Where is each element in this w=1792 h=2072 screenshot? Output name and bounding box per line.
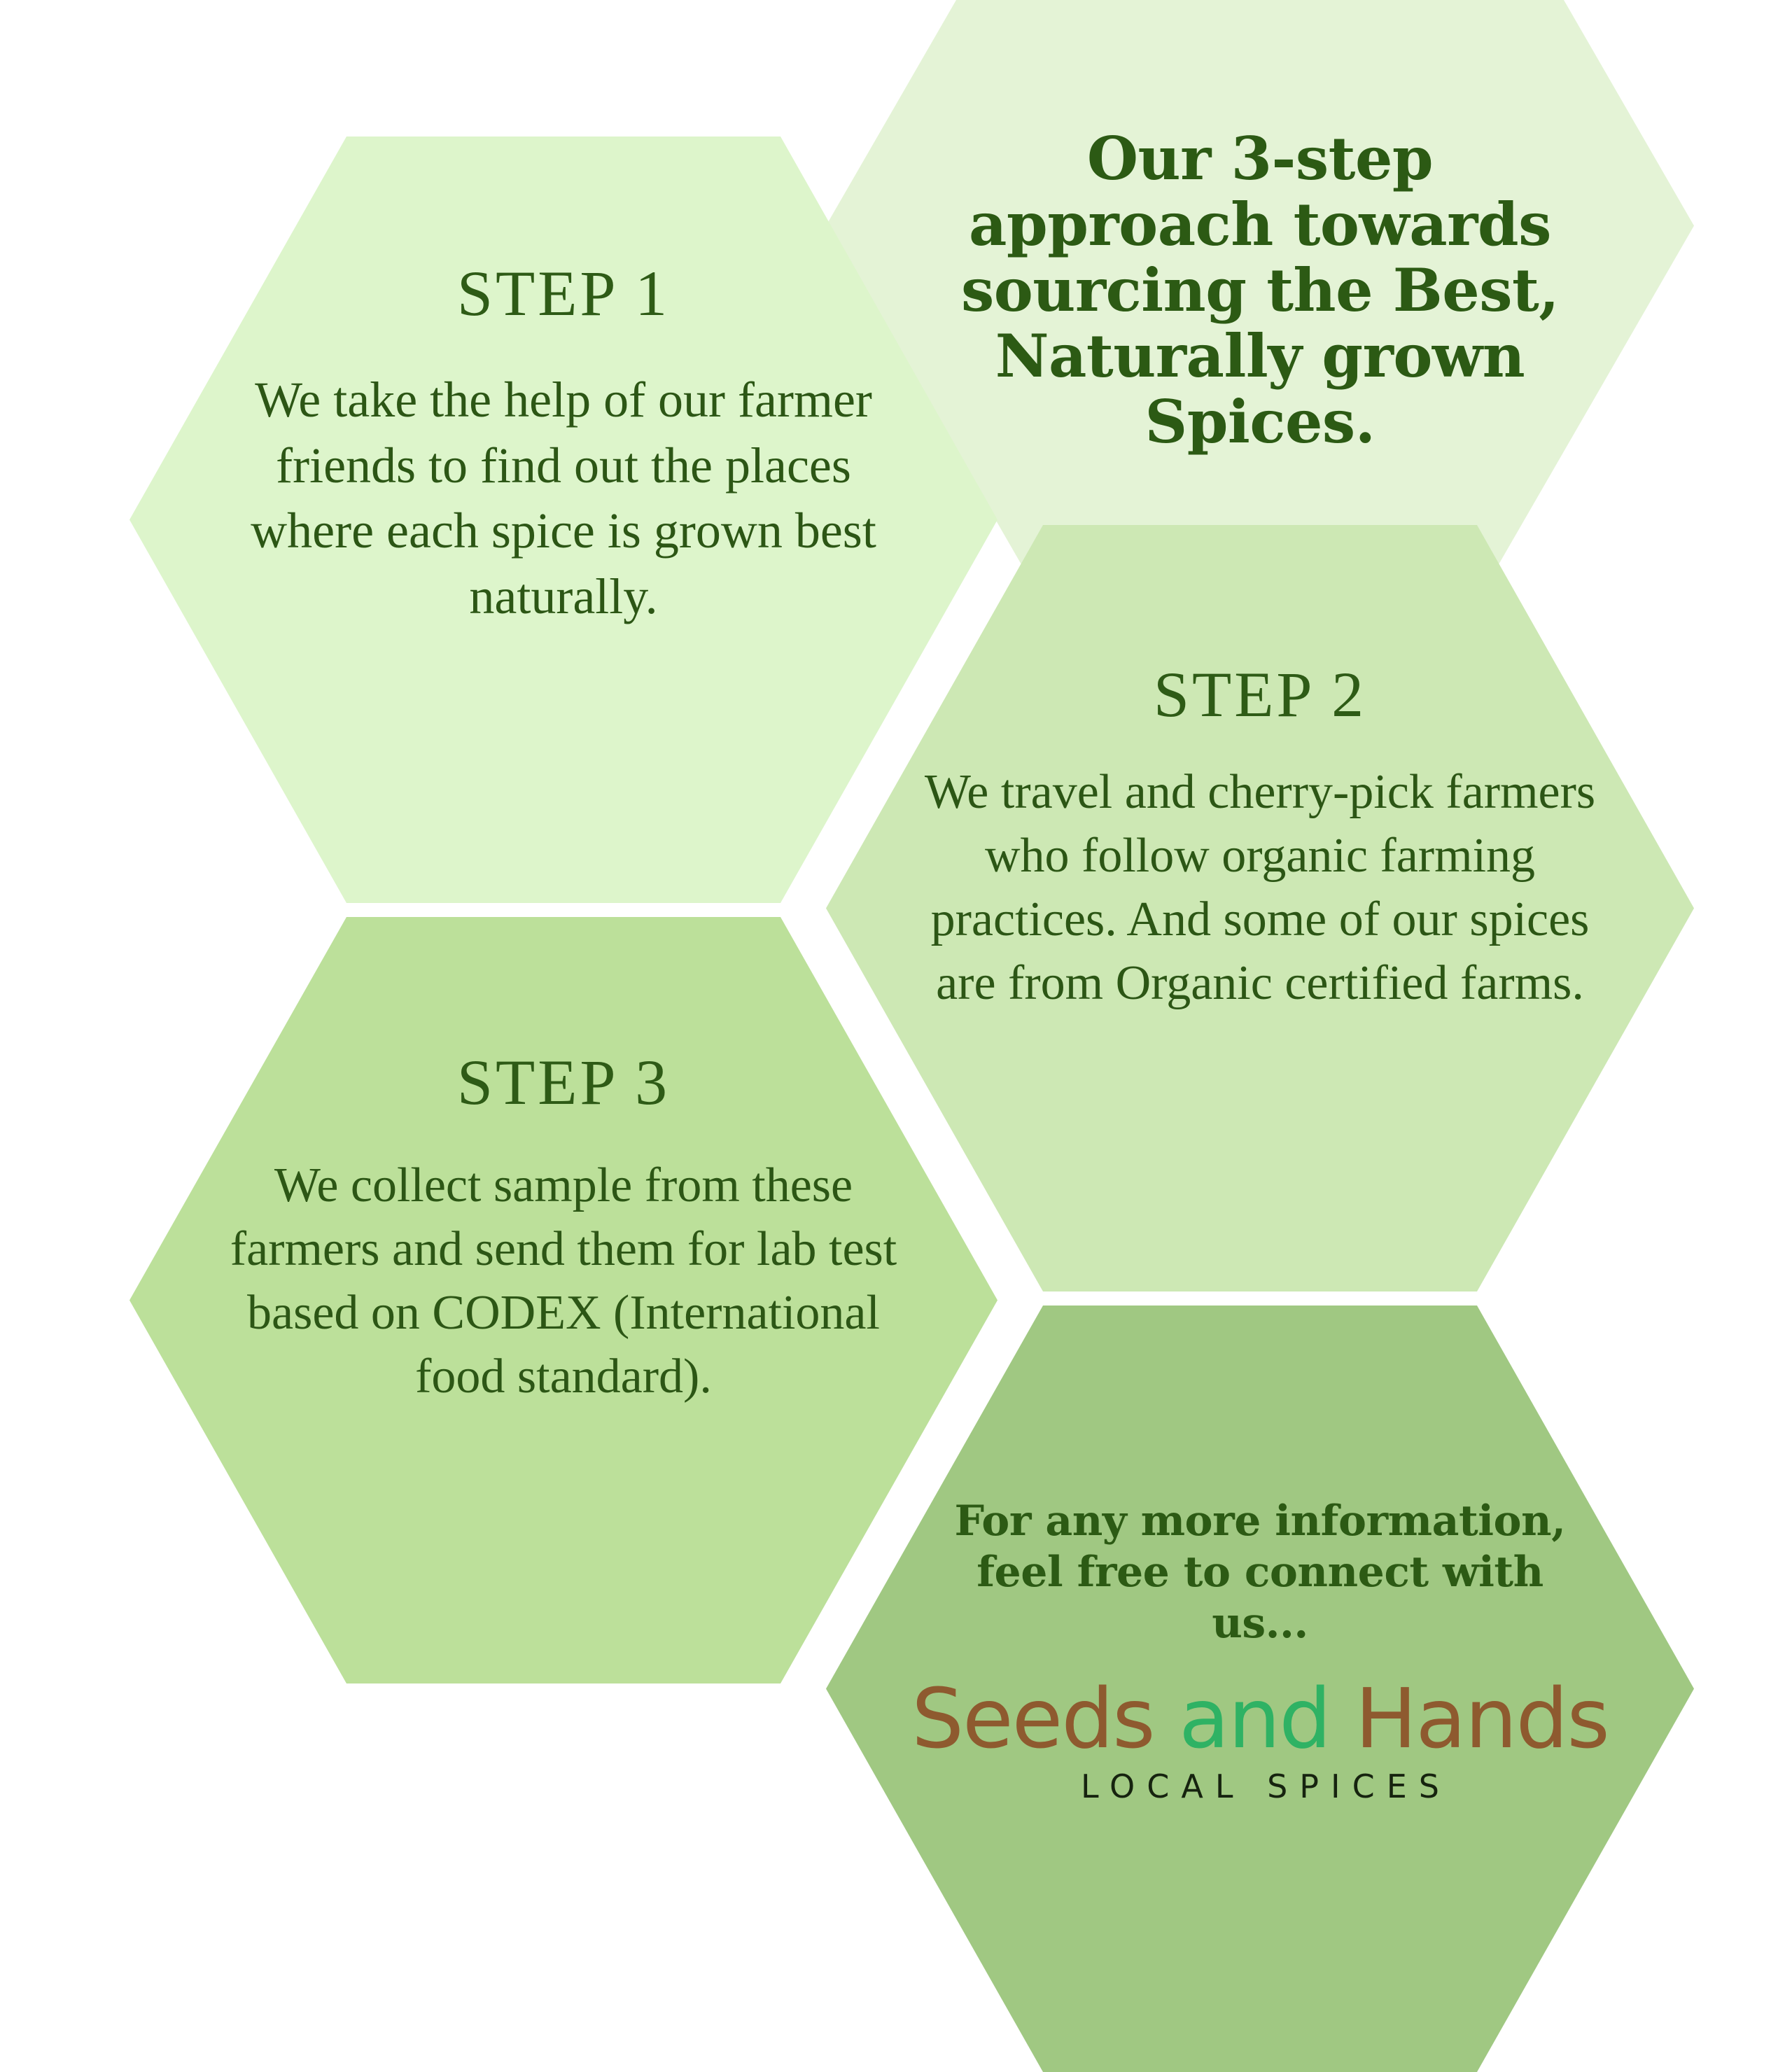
step-1-title: STEP 1 [457, 261, 670, 325]
logo-tagline: LOCAL SPICES [1069, 1767, 1451, 1805]
step-1-body: We take the help of our farmer friends t… [234, 367, 892, 629]
logo-word-hands: Hands [1355, 1670, 1609, 1767]
infographic-canvas: Our 3-step approach towards sourcing the… [0, 0, 1792, 1792]
logo-space-1 [1154, 1670, 1179, 1767]
logo-wordmark: Seeds and Hands [911, 1676, 1609, 1760]
contact-message: For any more information, feel free to c… [931, 1496, 1589, 1650]
logo-space-2 [1330, 1670, 1355, 1767]
hexagon-step-2: STEP 2 We travel and cherry-pick farmers… [826, 525, 1694, 1291]
page-title: Our 3-step approach towards sourcing the… [945, 126, 1575, 455]
hexagon-contact: For any more information, feel free to c… [826, 1305, 1694, 2072]
step-3-title: STEP 3 [457, 1050, 670, 1114]
step-2-body: We travel and cherry-pick farmers who fo… [918, 760, 1602, 1015]
step-3-body: We collect sample from these farmers and… [227, 1154, 899, 1408]
hexagon-step-3: STEP 3 We collect sample from these farm… [129, 917, 997, 1683]
logo-word-and: and [1179, 1670, 1330, 1767]
brand-logo: Seeds and Hands LOCAL SPICES [931, 1676, 1589, 1805]
logo-word-seeds: Seeds [911, 1670, 1154, 1767]
step-2-title: STEP 2 [1154, 662, 1366, 727]
